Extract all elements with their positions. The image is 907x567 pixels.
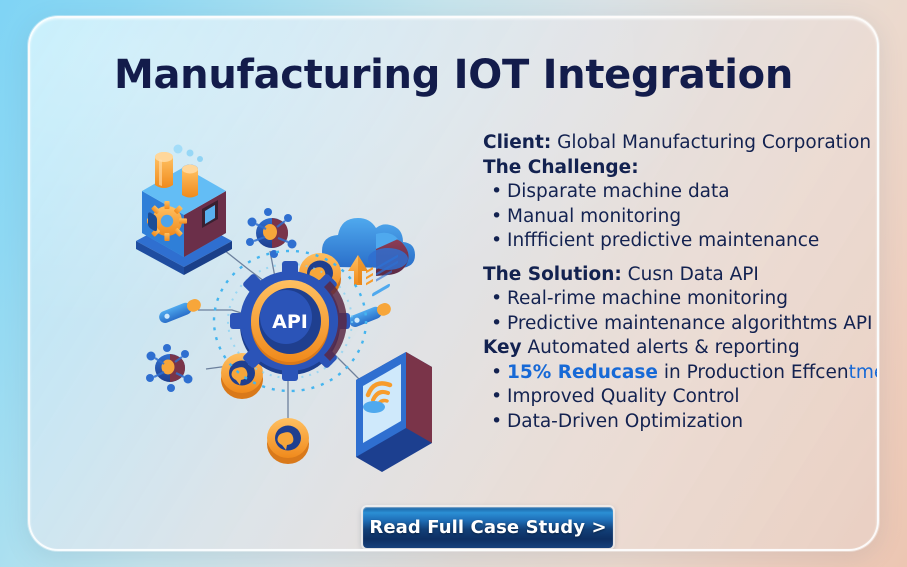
read-full-case-study-button[interactable]: Read Full Case Study > [363, 507, 613, 548]
client-row: Client: Global Manufacturing Corporation [483, 134, 879, 153]
factory-icon [136, 145, 232, 276]
client-value: Global Manufacturing Corporation [551, 132, 871, 153]
key-label: Key [483, 337, 522, 358]
api-gear-label: API [272, 311, 308, 333]
list-item-metric: 15% Reducase in Production Effcentme [483, 364, 879, 383]
list-item: Inffficient predictive maintenance [483, 232, 879, 251]
smartphone-icon [356, 254, 432, 472]
token-icon-bottom [267, 418, 309, 464]
molecule-icon-left [146, 344, 193, 392]
list-item: Real-rime machine monitoring [483, 290, 879, 309]
key-value: Automated alerts & reporting [522, 337, 800, 358]
slide-canvas: Manufacturing IOT Integration [0, 0, 907, 567]
solution-value: Cusn Data API [622, 264, 759, 285]
case-study-copy: Client: Global Manufacturing Corporation… [483, 134, 879, 437]
metric-highlight: 15% Reducase [507, 362, 658, 383]
list-item: Manual monitoring [483, 208, 879, 227]
cta-label: Read Full Case Study > [369, 517, 606, 538]
list-item: Disparate machine data [483, 183, 879, 202]
metric-rest: in Production Effcen [658, 362, 849, 383]
solution-heading: The Solution: Cusn Data API [483, 266, 879, 285]
challenge-heading: The Challenge: [483, 159, 879, 178]
capsule-icon-right [347, 301, 392, 329]
client-label: Client: [483, 132, 551, 153]
capsule-icon-left [157, 297, 202, 325]
case-study-card: Manufacturing IOT Integration [28, 16, 879, 551]
solution-label: The Solution: [483, 264, 622, 285]
key-results-heading: Key Automated alerts & reporting [483, 339, 879, 358]
metric-tail: tme [849, 362, 879, 383]
list-item: Improved Quality Control [483, 388, 879, 407]
iot-illustration: API [120, 143, 465, 488]
page-title: Manufacturing IOT Integration [30, 52, 877, 98]
list-item: Data-Driven Optimization [483, 413, 879, 432]
challenge-label: The Challenge: [483, 157, 639, 178]
list-item: Predictive maintenance algorithtms API [483, 315, 879, 334]
